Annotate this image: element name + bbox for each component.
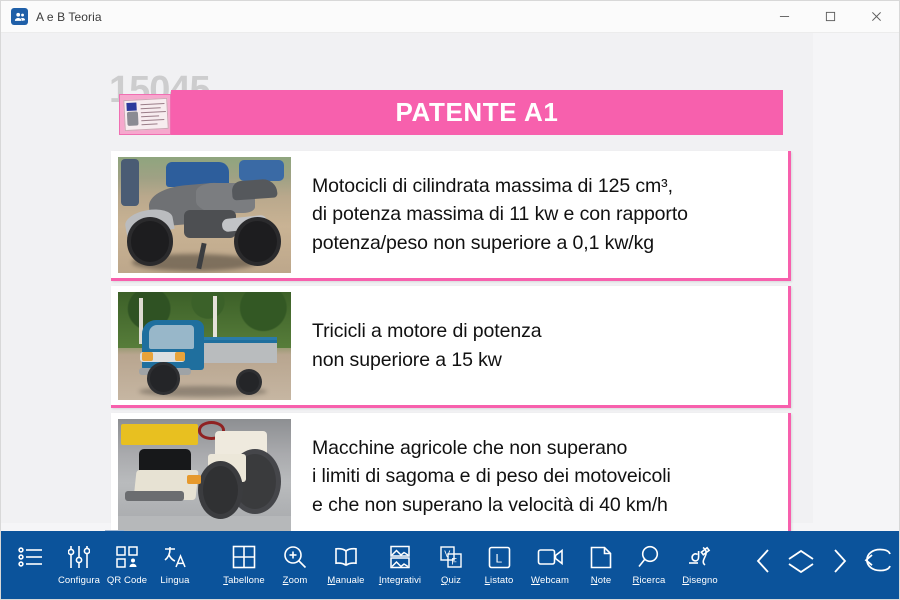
people-icon <box>11 8 28 25</box>
quiz-button[interactable]: V F Quiz <box>427 537 475 586</box>
three-wheeled-truck-photo[interactable] <box>117 291 292 401</box>
title-bar: A e B Teoria <box>1 1 899 33</box>
qrcode-icon <box>116 542 138 572</box>
integrativi-button[interactable]: Integrativi <box>373 537 427 586</box>
svg-text:L: L <box>495 551 502 565</box>
sliders-icon <box>68 542 90 572</box>
title-bar-left: A e B Teoria <box>1 8 102 25</box>
window-controls <box>761 1 899 32</box>
agricultural-tractor-photo[interactable] <box>117 418 292 531</box>
minimize-button[interactable] <box>761 1 807 32</box>
card-line: Tricicli a motore di potenza <box>312 317 778 345</box>
qrcode-label: QR Code <box>107 575 147 586</box>
listing-box-icon: L <box>488 542 511 572</box>
images-icon <box>388 542 412 572</box>
close-button[interactable] <box>853 1 899 32</box>
maximize-button[interactable] <box>807 1 853 32</box>
application-window: A e B Teoria 15045 <box>0 0 900 600</box>
card-text: Macchine agricole che non superano i lim… <box>292 413 788 531</box>
ricerca-button[interactable]: Ricerca <box>625 537 673 586</box>
qrcode-button[interactable]: QR Code <box>103 537 151 586</box>
manuale-button[interactable]: Manuale <box>319 537 373 586</box>
lingua-label: Lingua <box>160 575 189 586</box>
integrativi-label: Integrativi <box>379 575 421 586</box>
next-button[interactable] <box>820 537 858 587</box>
slide-stage: 15045 PATENTE A1 <box>1 33 899 531</box>
back-return-button[interactable] <box>858 537 896 587</box>
chevron-updown-icon <box>786 546 816 581</box>
bottom-toolbar: Configura QR Code Lingua <box>1 531 899 599</box>
banner-title: PATENTE A1 <box>396 97 559 128</box>
card-text: Motocicli di cilindrata massima di 125 c… <box>292 151 788 278</box>
note-icon <box>590 542 612 572</box>
quiz-label: Quiz <box>441 575 461 586</box>
pen-draw-icon <box>687 542 713 572</box>
window-title: A e B Teoria <box>36 10 102 24</box>
listato-button[interactable]: L Listato <box>475 537 523 586</box>
content-card[interactable]: Tricicli a motore di potenza non superio… <box>111 286 791 408</box>
svg-text:F: F <box>451 556 457 566</box>
zoom-in-icon <box>283 542 307 572</box>
card-line: Macchine agricole che non superano <box>312 434 778 462</box>
disegno-button[interactable]: Disegno <box>673 537 727 586</box>
note-label: Note <box>591 575 611 586</box>
quiz-cards-icon: V F <box>439 542 463 572</box>
tabellone-label: Tabellone <box>223 575 265 586</box>
return-arrow-icon <box>860 547 892 580</box>
card-line: Motocicli di cilindrata massima di 125 c… <box>312 172 778 200</box>
webcam-icon <box>537 542 564 572</box>
zoom-button[interactable]: Zoom <box>271 537 319 586</box>
note-button[interactable]: Note <box>577 537 625 586</box>
grid-table-icon <box>232 542 256 572</box>
content-card[interactable]: Macchine agricole che non superano i lim… <box>111 413 791 531</box>
configura-label: Configura <box>58 575 100 586</box>
webcam-button[interactable]: Webcam <box>523 537 577 586</box>
slide-canvas[interactable]: 15045 PATENTE A1 <box>1 33 813 523</box>
tabellone-button[interactable]: Tabellone <box>217 537 271 586</box>
previous-button[interactable] <box>745 537 783 587</box>
configura-button[interactable]: Configura <box>55 537 103 586</box>
card-line: potenza/peso non superiore a 0,1 kw/kg <box>312 229 778 257</box>
search-icon <box>637 542 661 572</box>
webcam-label: Webcam <box>531 575 569 586</box>
lingua-button[interactable]: Lingua <box>151 537 199 586</box>
book-icon <box>333 542 359 572</box>
chevron-left-icon <box>751 546 777 581</box>
disegno-label: Disegno <box>682 575 718 586</box>
chevron-right-icon <box>826 546 852 581</box>
slide-banner: PATENTE A1 <box>171 90 783 135</box>
scroll-updown-button[interactable] <box>783 537 821 587</box>
translate-icon <box>162 542 188 572</box>
ricerca-label: Ricerca <box>633 575 666 586</box>
card-line: non superiore a 15 kw <box>312 346 778 374</box>
card-line: i limiti di sagoma e di peso dei motovei… <box>312 462 778 490</box>
card-line: e che non superano la velocità di 40 km/… <box>312 491 778 519</box>
zoom-label: Zoom <box>283 575 308 586</box>
content-card[interactable]: Motocicli di cilindrata massima di 125 c… <box>111 151 791 281</box>
card-text: Tricicli a motore di potenza non superio… <box>292 286 788 405</box>
listato-label: Listato <box>485 575 514 586</box>
motorcycle-photo[interactable] <box>117 156 292 274</box>
manuale-label: Manuale <box>327 575 364 586</box>
menu-list-icon <box>18 542 44 572</box>
driving-license-icon <box>119 94 171 135</box>
menu-list-button[interactable] <box>7 537 55 575</box>
card-line: di potenza massima di 11 kw e con rappor… <box>312 200 778 228</box>
